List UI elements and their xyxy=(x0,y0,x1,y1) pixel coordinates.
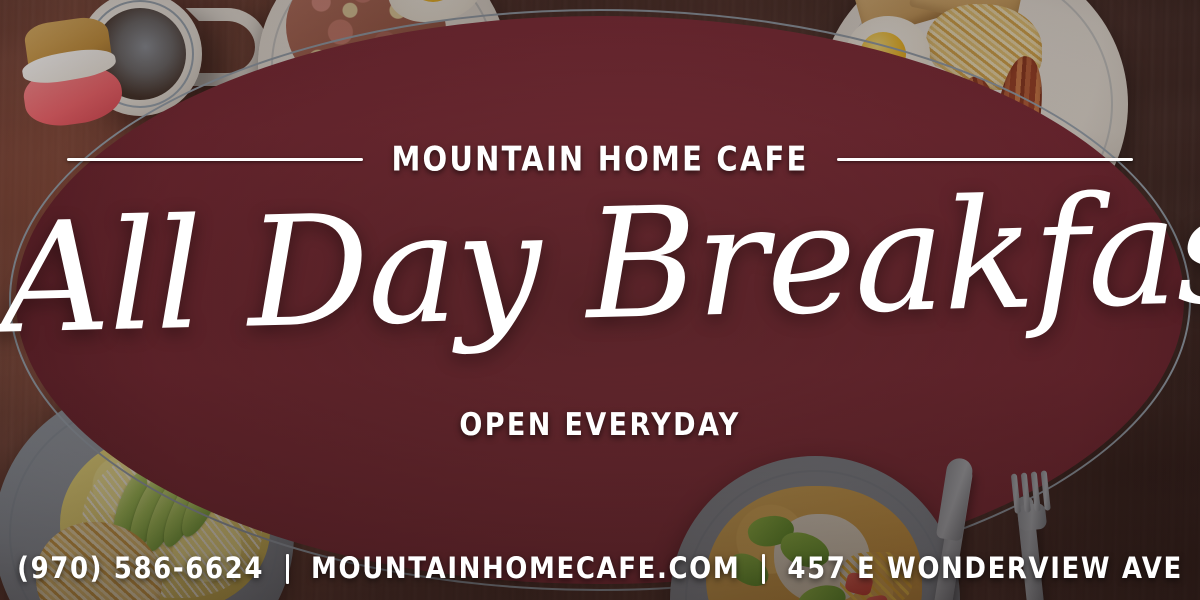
phone-number[interactable]: (970) 586-6624 xyxy=(17,554,264,583)
footer-divider xyxy=(762,554,765,584)
hours-subhead: OPEN EVERYDAY xyxy=(0,410,1200,441)
ad-text-layer: MOUNTAIN HOME CAFE All Day Breakfast! OP… xyxy=(0,0,1200,600)
street-address[interactable]: 457 E WONDERVIEW AVE xyxy=(787,554,1183,583)
eyebrow-rule-left xyxy=(67,158,363,161)
all-day-breakfast-ad: MOUNTAIN HOME CAFE All Day Breakfast! OP… xyxy=(0,0,1200,600)
contact-footer: (970) 586-6624 MOUNTAINHOMECAFE.COM 457 … xyxy=(0,554,1200,584)
headline: All Day Breakfast! xyxy=(0,157,1200,372)
footer-divider xyxy=(286,554,289,584)
website-url[interactable]: MOUNTAINHOMECAFE.COM xyxy=(311,554,740,583)
